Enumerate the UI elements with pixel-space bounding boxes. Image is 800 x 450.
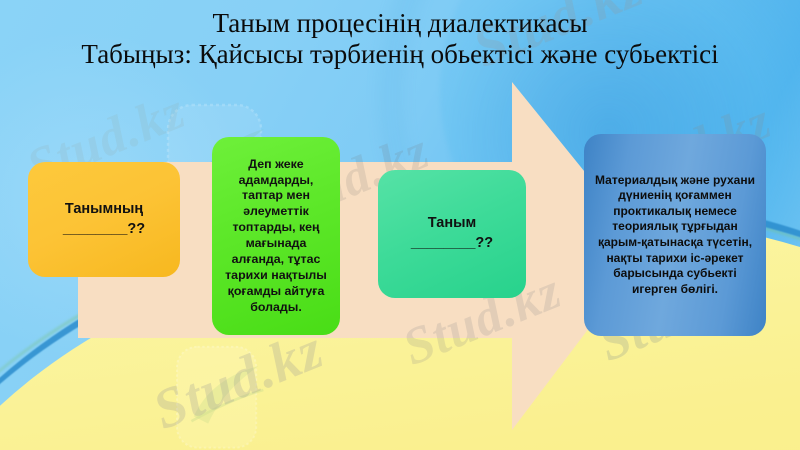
slide-title: Таным процесінің диалектикасы Табыңыз: Қ… <box>40 8 760 71</box>
concept-box-definition-blue[interactable]: Материалдық және рухани дүниенің қоғамме… <box>584 134 766 336</box>
concept-box-tanymnyn-text: Танымның ________?? <box>36 200 172 239</box>
slide-canvas: Stud.kz Stud.kz Stud.kz Stud.kz Stud.kz … <box>0 0 800 450</box>
concept-box-tanym-text: Таным ________?? <box>386 214 518 253</box>
concept-box-tanym[interactable]: Таным ________?? <box>378 170 526 298</box>
concept-box-tanymnyn[interactable]: Танымның ________?? <box>28 162 180 277</box>
concept-box-definition-green[interactable]: Деп жеке адамдарды, таптар мен әлеуметті… <box>212 137 340 335</box>
slide-title-line-2: Табыңыз: Қайсысы тәрбиенің обьектісі жән… <box>40 39 760 70</box>
slide-title-line-1: Таным процесінің диалектикасы <box>40 8 760 39</box>
concept-box-definition-blue-text: Материалдық және рухани дүниенің қоғамме… <box>591 173 759 298</box>
concept-box-definition-green-text: Деп жеке адамдарды, таптар мен әлеуметті… <box>219 157 333 316</box>
